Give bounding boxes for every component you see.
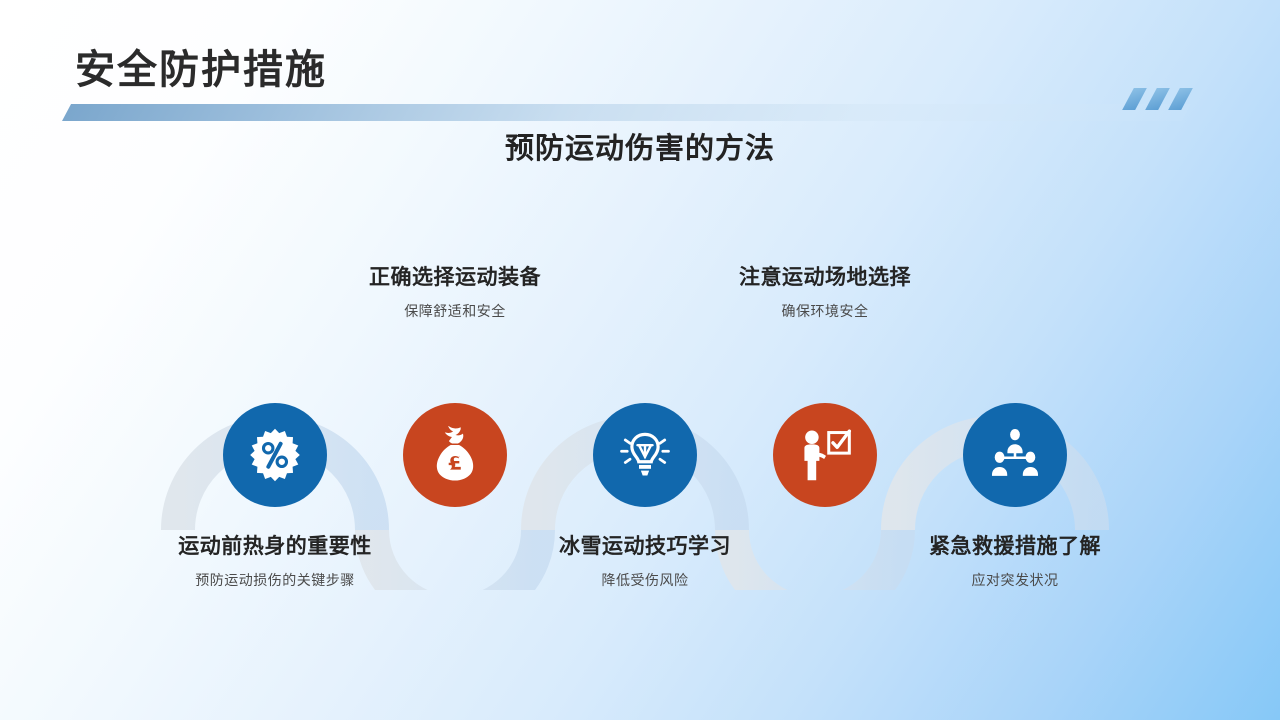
- percent-badge-icon: [246, 426, 304, 484]
- page-title: 安全防护措施: [75, 48, 327, 92]
- step-node-5[interactable]: [963, 403, 1067, 507]
- slash-decoration-icon: [1128, 88, 1198, 110]
- title-underline-bar: [62, 104, 1191, 121]
- lightbulb-idea-icon: [615, 425, 675, 485]
- caption-subtitle: 保障舒适和安全: [290, 302, 620, 320]
- caption-title: 紧急救援措施了解: [850, 534, 1180, 560]
- caption-title: 注意运动场地选择: [660, 265, 990, 291]
- step-node-1[interactable]: [223, 403, 327, 507]
- slide-canvas: 安全防护措施 预防运动伤害的方法: [0, 0, 1280, 720]
- caption-node-4: 注意运动场地选择 确保环境安全: [660, 265, 990, 320]
- caption-title: 正确选择运动装备: [290, 265, 620, 291]
- page-subtitle: 预防运动伤害的方法: [0, 125, 1280, 167]
- slash-bar-2: [1145, 88, 1170, 110]
- caption-subtitle: 预防运动损伤的关键步骤: [110, 571, 440, 589]
- slash-bar-3: [1168, 88, 1193, 110]
- presenter-checklist-icon: [795, 426, 855, 484]
- step-node-3[interactable]: [593, 403, 697, 507]
- caption-subtitle: 应对突发状况: [850, 571, 1180, 589]
- money-bag-pound-icon: [427, 426, 483, 484]
- slash-bar-1: [1122, 88, 1147, 110]
- caption-node-1: 运动前热身的重要性 预防运动损伤的关键步骤: [110, 534, 440, 589]
- caption-node-3: 冰雪运动技巧学习 降低受伤风险: [480, 534, 810, 589]
- caption-title: 冰雪运动技巧学习: [480, 534, 810, 560]
- team-org-chart-icon: [986, 427, 1044, 483]
- caption-node-5: 紧急救援措施了解 应对突发状况: [850, 534, 1180, 589]
- step-node-4[interactable]: [773, 403, 877, 507]
- caption-subtitle: 确保环境安全: [660, 302, 990, 320]
- step-node-2[interactable]: [403, 403, 507, 507]
- caption-title: 运动前热身的重要性: [110, 534, 440, 560]
- caption-node-2: 正确选择运动装备 保障舒适和安全: [290, 265, 620, 320]
- caption-subtitle: 降低受伤风险: [480, 571, 810, 589]
